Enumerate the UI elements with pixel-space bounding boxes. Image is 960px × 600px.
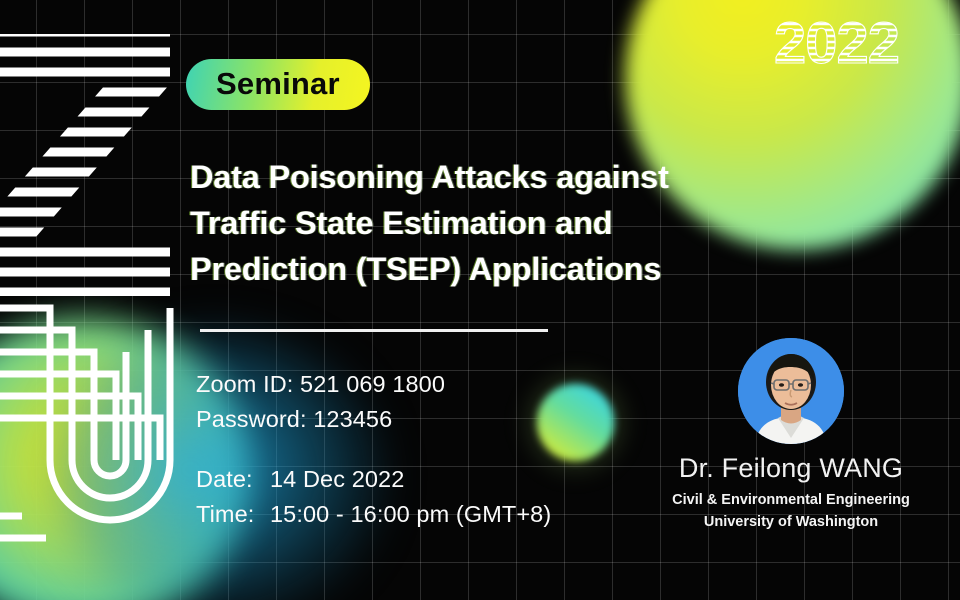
- meeting-info: Zoom ID: 521 069 1800 Password: 123456 D…: [196, 367, 551, 531]
- divider: [200, 329, 548, 332]
- portrait-photo-icon: [738, 338, 844, 444]
- speaker-block: Dr. Feilong WANG Civil & Environmental E…: [641, 338, 941, 534]
- year-2022: 2022 2022: [774, 16, 944, 76]
- speaker-institution: University of Washington: [641, 511, 941, 533]
- date-row: Date: 14 Dec 2022: [196, 462, 551, 497]
- speaker-affiliation: Civil & Environmental Engineering Univer…: [641, 489, 941, 534]
- zoom-id-line: Zoom ID: 521 069 1800: [196, 367, 551, 402]
- page-title: Data Poisoning Attacks against Traffic S…: [190, 154, 830, 292]
- seminar-badge: Seminar: [186, 59, 370, 110]
- title-line-2: Traffic State Estimation and: [190, 200, 830, 246]
- time-row: Time: 15:00 - 16:00 pm (GMT+8): [196, 497, 551, 532]
- password-line: Password: 123456: [196, 402, 551, 437]
- avatar: [738, 338, 844, 444]
- time-label: Time:: [196, 497, 270, 532]
- info-spacer: [196, 436, 551, 462]
- speaker-department: Civil & Environmental Engineering: [641, 489, 941, 511]
- seminar-poster: 2022 2022 Seminar Data Poisoning Attacks…: [0, 0, 960, 600]
- time-value: 15:00 - 16:00 pm (GMT+8): [270, 497, 551, 532]
- date-value: 14 Dec 2022: [270, 462, 404, 497]
- title-line-1: Data Poisoning Attacks against: [190, 154, 830, 200]
- year-label: 2022: [774, 16, 899, 76]
- date-label: Date:: [196, 462, 270, 497]
- title-line-3: Prediction (TSEP) Applications: [190, 246, 830, 292]
- speaker-name: Dr. Feilong WANG: [641, 453, 941, 484]
